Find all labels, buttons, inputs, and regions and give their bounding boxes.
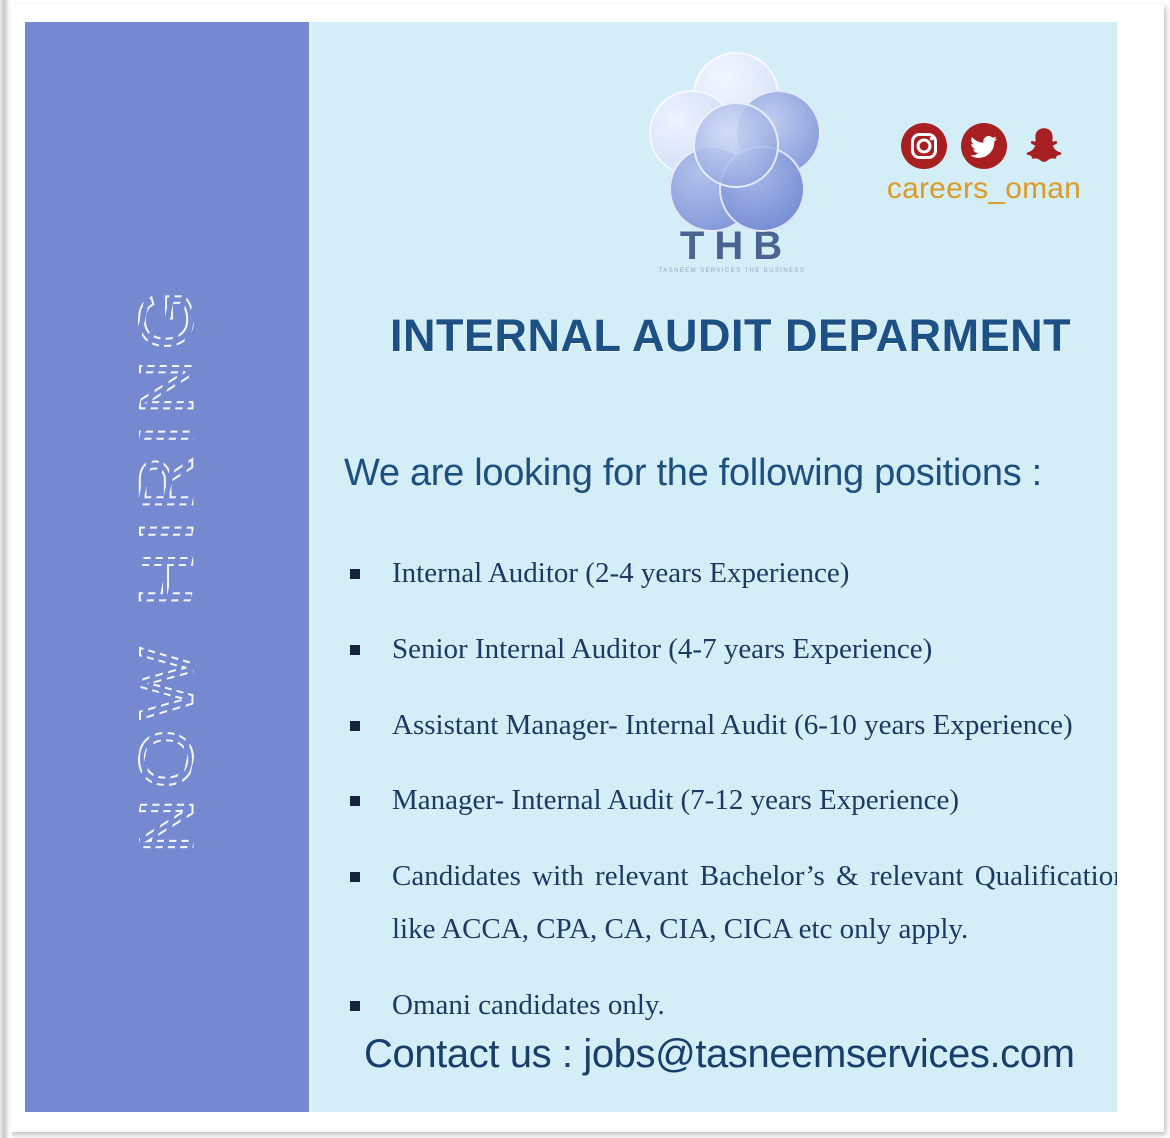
position-label: Internal Auditor (2-4 years Experience) xyxy=(392,557,849,589)
twitter-icon[interactable] xyxy=(961,123,1007,169)
subtitle: We are looking for the following positio… xyxy=(344,452,1117,495)
position-label: Assistant Manager- Internal Audit (6-10 … xyxy=(392,709,1073,741)
now-hiring-sidebar: NOW HIRING xyxy=(25,22,309,1112)
poster-main-column: THB TASNEEM SERVICES THE BUSINESS xyxy=(312,22,1117,1112)
list-item: Internal Auditor (2-4 years Experience) xyxy=(342,547,1117,600)
social-handle: careers_oman xyxy=(869,172,1099,206)
logo-wordmark: THB xyxy=(637,226,827,266)
snapchat-icon[interactable] xyxy=(1021,123,1067,169)
position-label: Omani candidates only. xyxy=(392,989,665,1021)
now-hiring-text: NOW HIRING xyxy=(124,281,211,854)
paper-left-edge xyxy=(0,0,12,1138)
logo-tagline: TASNEEM SERVICES THE BUSINESS xyxy=(637,268,827,274)
page-title: INTERNAL AUDIT DEPARMENT xyxy=(390,310,1117,362)
position-label: Candidates with relevant Bachelor’s & re… xyxy=(392,850,1117,956)
list-item: Assistant Manager- Internal Audit (6-10 … xyxy=(342,699,1117,752)
logo-petal-center xyxy=(693,102,779,188)
logo-circles-icon xyxy=(647,50,817,220)
instagram-icon[interactable] xyxy=(901,123,947,169)
social-block: careers_oman xyxy=(869,122,1099,206)
list-item: Manager- Internal Audit (7-12 years Expe… xyxy=(342,774,1117,827)
poster-frame: NOW HIRING THB TASNEEM SERVICES THE BUSI… xyxy=(0,0,1170,1138)
social-icon-row xyxy=(869,122,1099,170)
list-item: Candidates with relevant Bachelor’s & re… xyxy=(342,850,1117,956)
list-item: Omani candidates only. xyxy=(342,979,1117,1032)
list-item: Senior Internal Auditor (4-7 years Exper… xyxy=(342,623,1117,676)
contact-line[interactable]: Contact us : jobs@tasneemservices.com xyxy=(364,1032,1075,1077)
positions-list: Internal Auditor (2-4 years Experience) … xyxy=(342,547,1117,1054)
position-label: Manager- Internal Audit (7-12 years Expe… xyxy=(392,784,959,816)
company-logo: THB TASNEEM SERVICES THE BUSINESS xyxy=(637,50,827,280)
poster-content: NOW HIRING THB TASNEEM SERVICES THE BUSI… xyxy=(25,22,1117,1112)
position-label: Senior Internal Auditor (4-7 years Exper… xyxy=(392,633,932,665)
